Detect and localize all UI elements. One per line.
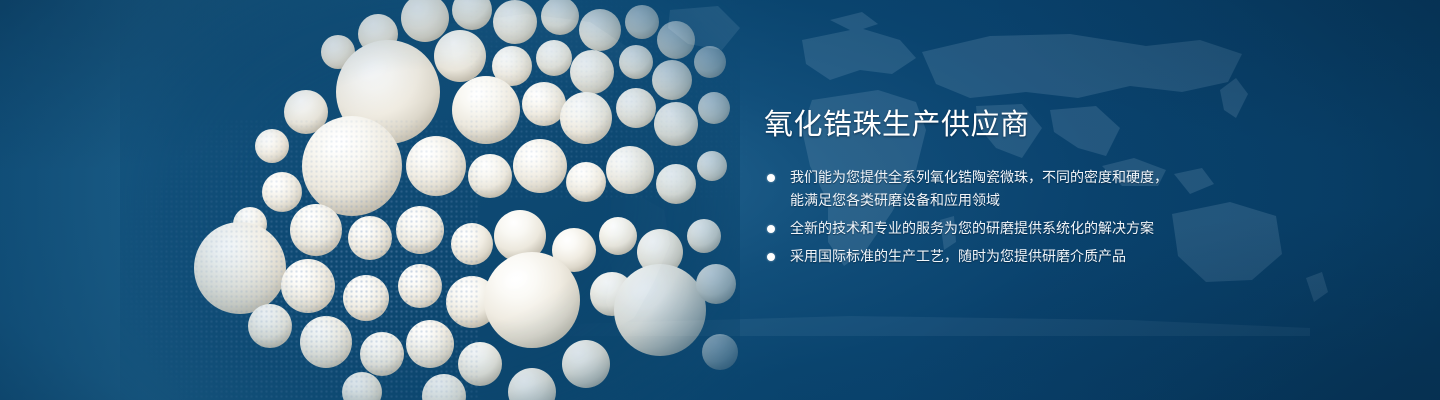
bullet-line-2: 能满足您各类研磨设备和应用领域: [790, 189, 1404, 212]
bullet-line-1: 采用国际标准的生产工艺，随时为您提供研磨介质产品: [790, 248, 1126, 264]
bullet-dot-icon: [767, 174, 775, 182]
hero-banner: 氧化锆珠生产供应商 我们能为您提供全系列氧化锆陶瓷微珠，不同的密度和硬度， 能满…: [0, 0, 1440, 400]
banner-copy: 氧化锆珠生产供应商 我们能为您提供全系列氧化锆陶瓷微珠，不同的密度和硬度， 能满…: [764, 106, 1404, 273]
list-item: 我们能为您提供全系列氧化锆陶瓷微珠，不同的密度和硬度， 能满足您各类研磨设备和应…: [764, 166, 1404, 212]
bullet-line-1: 我们能为您提供全系列氧化锆陶瓷微珠，不同的密度和硬度，: [790, 169, 1168, 185]
bullet-line-1: 全新的技术和专业的服务为您的研磨提供系统化的解决方案: [790, 220, 1154, 236]
bullet-dot-icon: [767, 225, 775, 233]
banner-headline: 氧化锆珠生产供应商: [764, 106, 1404, 144]
list-item: 采用国际标准的生产工艺，随时为您提供研磨介质产品: [764, 245, 1404, 268]
bullet-dot-icon: [767, 253, 775, 261]
list-item: 全新的技术和专业的服务为您的研磨提供系统化的解决方案: [764, 217, 1404, 240]
banner-bullet-list: 我们能为您提供全系列氧化锆陶瓷微珠，不同的密度和硬度， 能满足您各类研磨设备和应…: [764, 166, 1404, 268]
